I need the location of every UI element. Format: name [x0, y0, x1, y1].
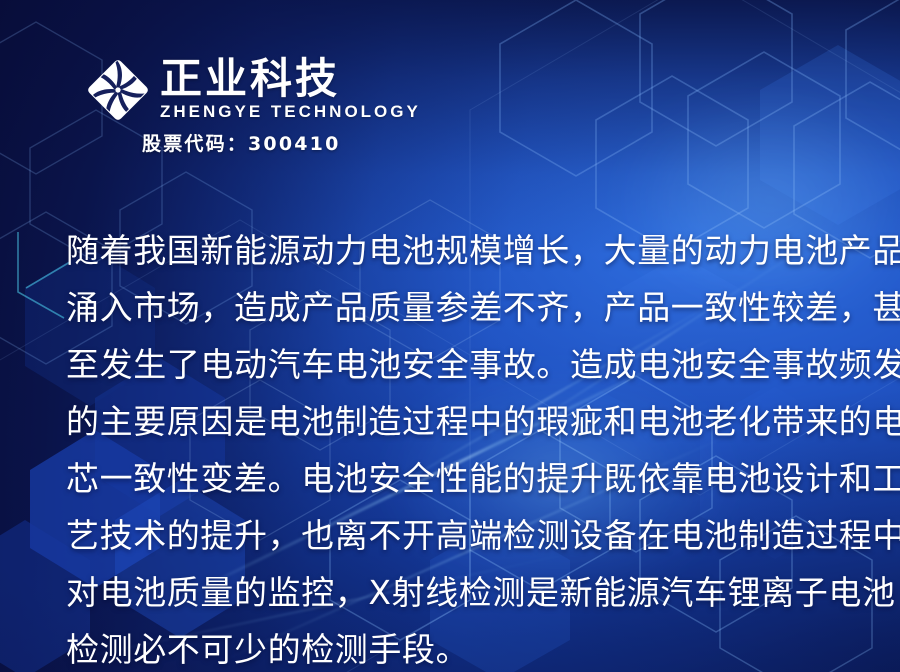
brand-name-cn: 正业科技: [160, 57, 421, 101]
body-paragraph: 随着我国新能源动力电池规模增长，大量的动力电池产品 涌入市场，造成产品质量参差不…: [66, 222, 856, 672]
logo-row: 正业科技 ZHENGYE TECHNOLOGY: [86, 56, 421, 122]
paragraph-line: 涌入市场，造成产品质量参差不齐，产品一致性较差，甚: [66, 279, 856, 336]
paragraph-line: 对电池质量的监控，X射线检测是新能源汽车锂离子电池: [66, 564, 856, 621]
paragraph-line: 的主要原因是电池制造过程中的瑕疵和电池老化带来的电: [66, 393, 856, 450]
brand-name-en: ZHENGYE TECHNOLOGY: [160, 102, 421, 122]
brand-logo-block: 正业科技 ZHENGYE TECHNOLOGY 股票代码：300410: [86, 56, 421, 156]
logo-wordmark: 正业科技 ZHENGYE TECHNOLOGY: [160, 56, 421, 122]
paragraph-line: 随着我国新能源动力电池规模增长，大量的动力电池产品: [66, 222, 856, 279]
paragraph-line: 艺技术的提升，也离不开高端检测设备在电池制造过程中: [66, 507, 856, 564]
banner-canvas: 正业科技 ZHENGYE TECHNOLOGY 股票代码：300410 随着我国…: [0, 0, 900, 672]
stock-code-label: 股票代码：300410: [142, 132, 421, 156]
paragraph-line: 检测必不可少的检测手段。: [66, 621, 856, 672]
paragraph-line: 至发生了电动汽车电池安全事故。造成电池安全事故频发: [66, 336, 856, 393]
paragraph-line: 芯一致性变差。电池安全性能的提升既依靠电池设计和工: [66, 450, 856, 507]
zhengye-pinwheel-diamond-logo-icon: [86, 58, 150, 122]
